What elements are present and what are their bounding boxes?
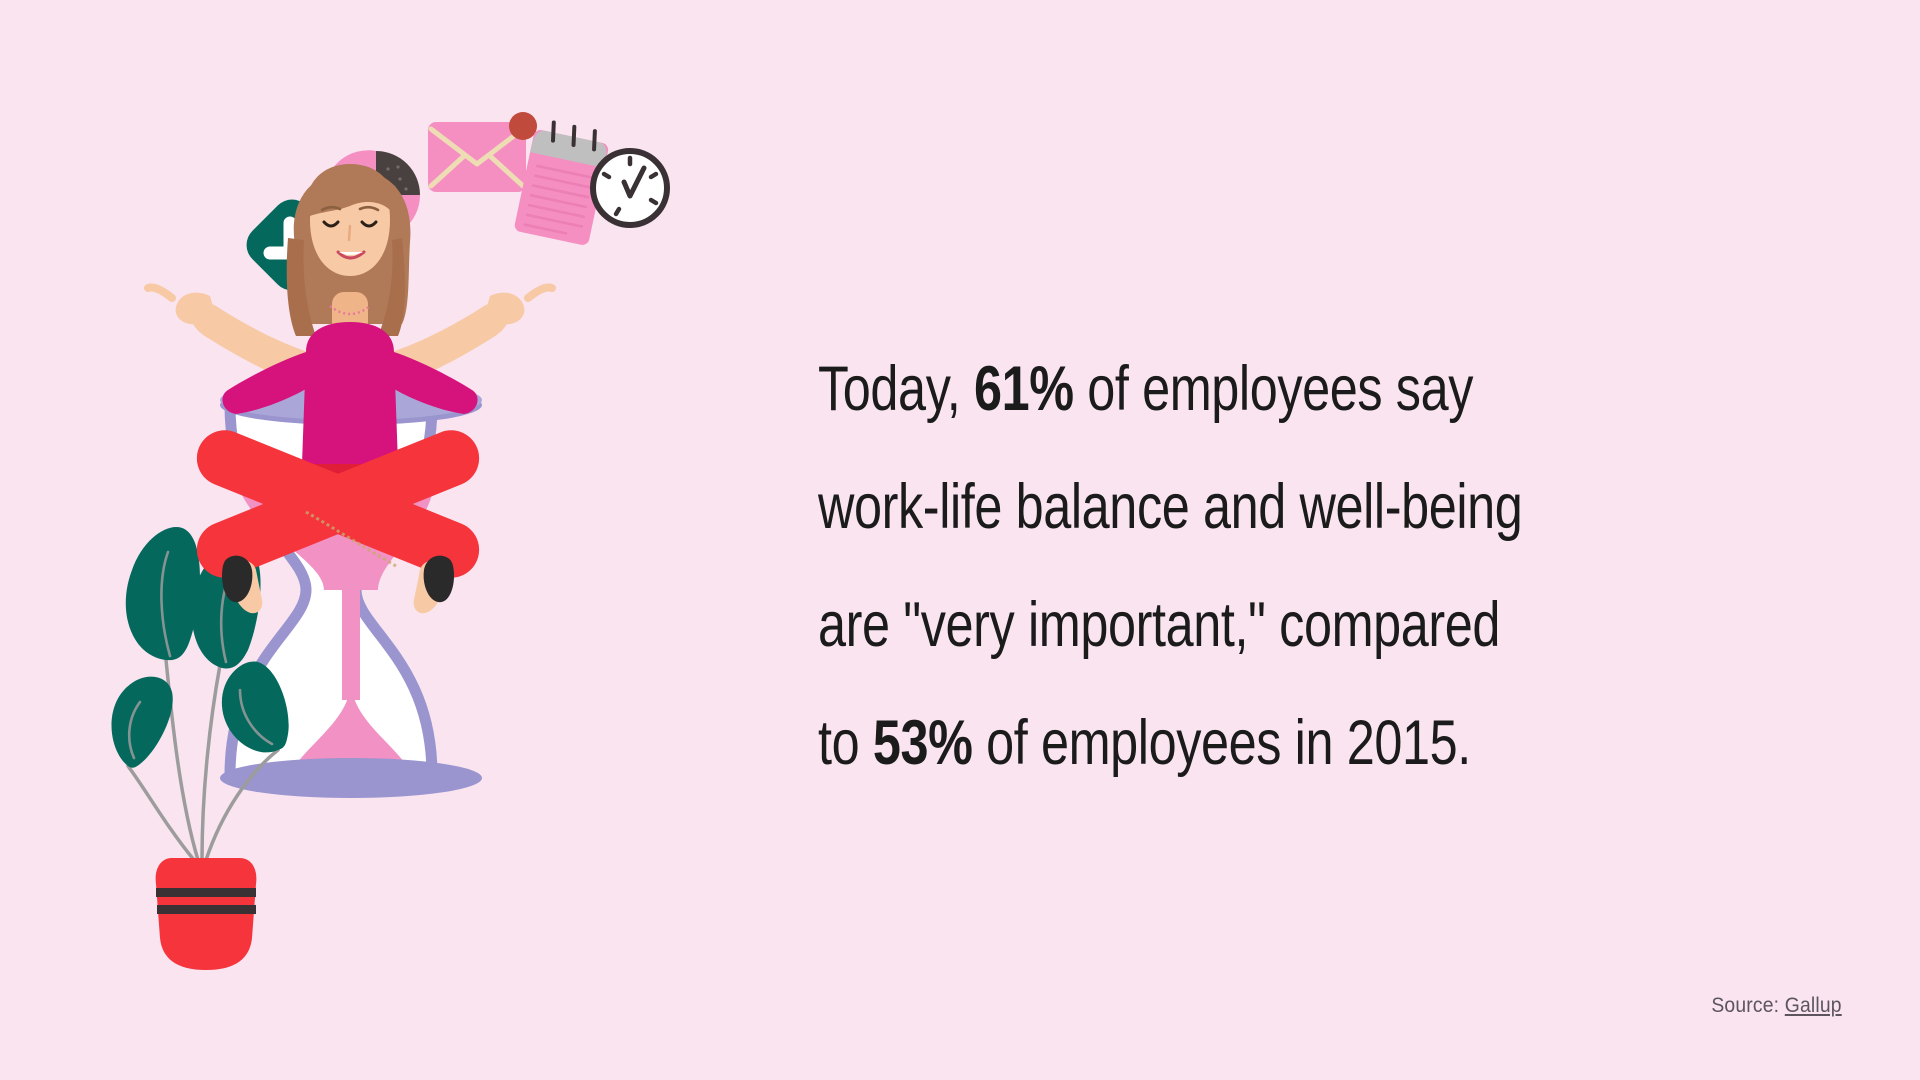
wall-clock-icon [593, 151, 667, 225]
hourglass-base [220, 758, 482, 798]
statistic-line-1-post: of employees say [1074, 354, 1473, 424]
hand-left [148, 287, 214, 324]
infographic-canvas: Today, 61% of employees say work-life ba… [0, 0, 1920, 1080]
hand-right [486, 287, 552, 324]
statistic-line-3-pre: are "very important," compared [818, 590, 1500, 660]
statistic-line-2-pre: work-life balance and well-being [818, 472, 1522, 542]
statistic-line-2: work-life balance and well-being [818, 448, 1666, 566]
statistic-line-4: to 53% of employees in 2015. [818, 684, 1666, 802]
notification-dot-icon [509, 112, 537, 140]
statistic-value-53: 53% [873, 708, 973, 778]
source-link-gallup[interactable]: Gallup [1785, 994, 1842, 1017]
statistic-line-1-pre: Today, [818, 354, 974, 424]
illustration-meditating-woman-hourglass [110, 60, 790, 1020]
potted-plant [112, 527, 289, 970]
envelope-icon [428, 112, 537, 192]
statistic-text-block: Today, 61% of employees say work-life ba… [818, 330, 1878, 802]
statistic-line-4-pre: to [818, 708, 873, 778]
statistic-line-3: are "very important," compared [818, 566, 1666, 684]
statistic-line-1: Today, 61% of employees say [818, 330, 1666, 448]
source-attribution: Source: Gallup [1712, 994, 1842, 1018]
statistic-line-4-post: of employees in 2015. [973, 708, 1471, 778]
statistic-value-61: 61% [974, 354, 1074, 424]
source-label: Source: [1712, 994, 1785, 1017]
